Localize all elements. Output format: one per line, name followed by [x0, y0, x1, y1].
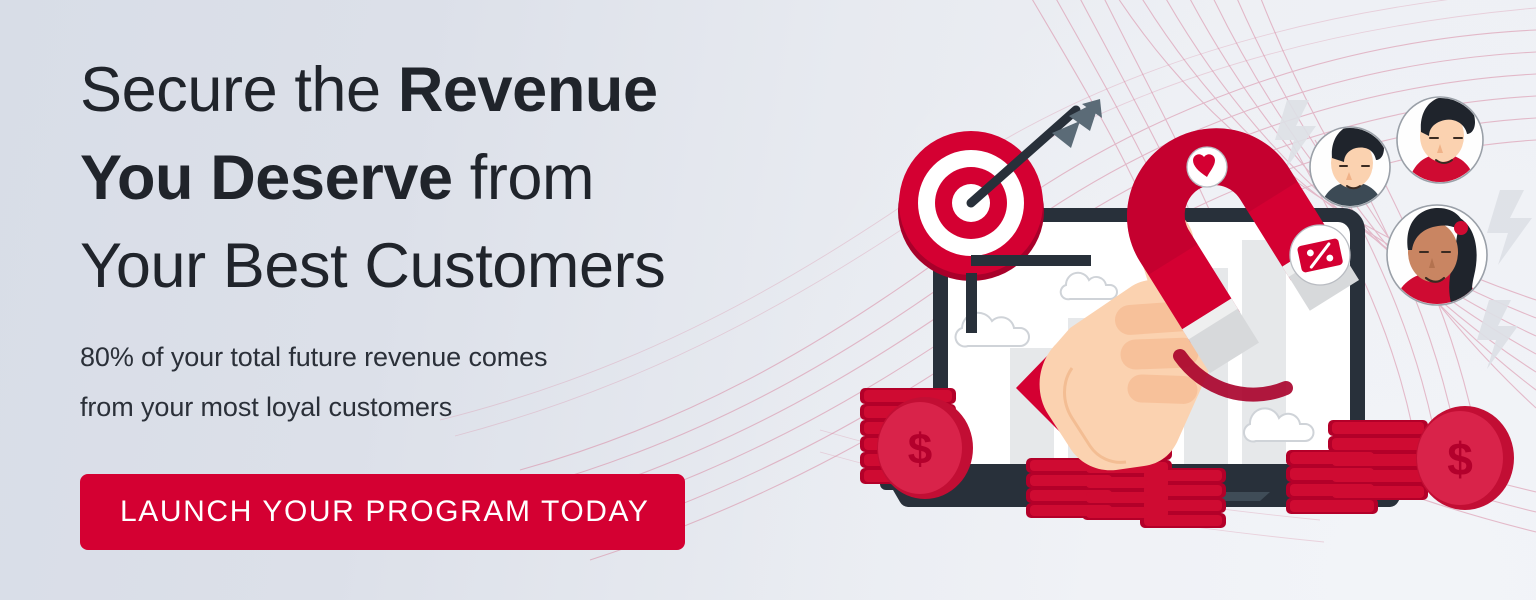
promo-banner: Secure the Revenue You Deserve from Your… — [0, 0, 1536, 600]
coin-dollar-symbol: $ — [908, 425, 932, 474]
subheadline: 80% of your total future revenue comes f… — [80, 310, 820, 432]
avatar-man-red — [1397, 96, 1483, 188]
headline-line-2: You Deserve from — [80, 134, 820, 222]
subheadline-line-2: from your most loyal customers — [80, 392, 452, 422]
avatar-woman-red — [1387, 205, 1487, 312]
coin-dollar-symbol-right: $ — [1447, 433, 1473, 485]
headline-plain-1: Secure the — [80, 55, 398, 125]
subheadline-line-1: 80% of your total future revenue comes — [80, 342, 547, 372]
headline-plain-2: from — [453, 143, 595, 213]
headline-bold-1: Revenue — [398, 55, 658, 125]
avatar-man-teal — [1310, 124, 1390, 212]
heart-badge — [1187, 147, 1227, 187]
headline-line-3: Your Best Customers — [80, 222, 820, 310]
launch-program-cta-button[interactable]: LAUNCH YOUR PROGRAM TODAY — [80, 474, 685, 550]
cta-label: LAUNCH YOUR PROGRAM TODAY — [120, 495, 650, 529]
discount-tag-badge — [1290, 225, 1350, 285]
headline-line-1: Secure the Revenue — [80, 46, 820, 134]
copy-block: Secure the Revenue You Deserve from Your… — [80, 46, 820, 432]
headline-bold-2: You Deserve — [80, 143, 453, 213]
hero-illustration: $ — [820, 0, 1536, 600]
